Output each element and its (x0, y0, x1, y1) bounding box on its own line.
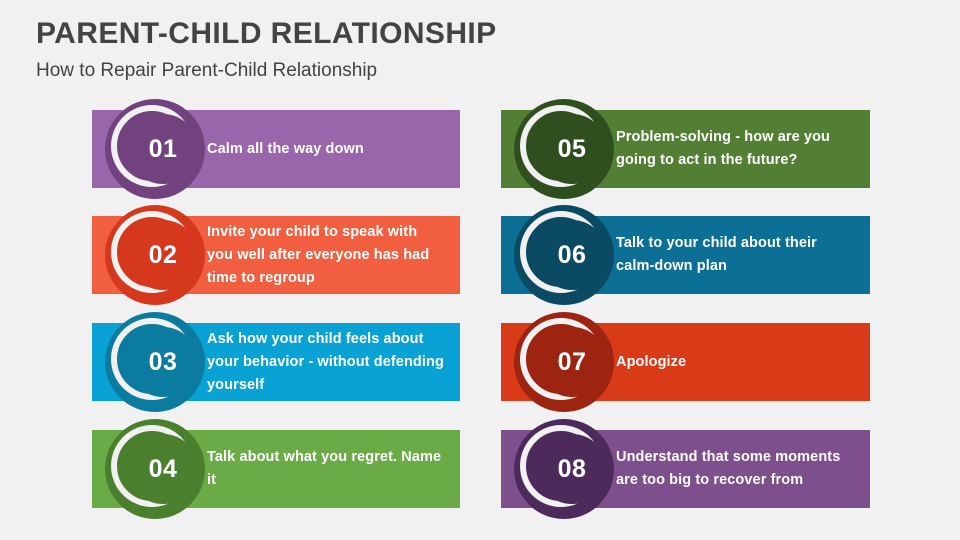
step-card-text: Talk about what you regret. Name it (207, 430, 446, 508)
step-card-label: Invite your child to speak with you well… (207, 221, 446, 290)
step-number-badge: 05 (514, 99, 614, 199)
step-number: 08 (558, 457, 587, 482)
step-number: 05 (558, 137, 587, 162)
step-card-label: Ask how your child feels about your beha… (207, 328, 446, 397)
step-number-badge: 06 (514, 205, 614, 305)
step-number: 07 (558, 350, 587, 375)
step-number: 06 (558, 243, 587, 268)
badge-inner-disc: 02 (128, 220, 198, 290)
step-number-badge: 07 (514, 312, 614, 412)
step-card-label: Apologize (616, 351, 686, 374)
badge-inner-disc: 06 (537, 220, 607, 290)
step-number-badge: 08 (514, 419, 614, 519)
slide-header: PARENT-CHILD RELATIONSHIP How to Repair … (36, 16, 916, 84)
step-card-text: Apologize (616, 323, 856, 401)
step-card-label: Talk about what you regret. Name it (207, 446, 446, 492)
step-card-text: Talk to your child about their calm-down… (616, 216, 856, 294)
step-number: 03 (149, 350, 178, 375)
step-card-label: Problem-solving - how are you going to a… (616, 126, 856, 172)
step-number: 01 (149, 137, 178, 162)
step-card[interactable]: 02Invite your child to speak with you we… (92, 216, 460, 294)
step-number-badge: 02 (105, 205, 205, 305)
badge-inner-disc: 07 (537, 327, 607, 397)
step-card[interactable]: 08Understand that some moments are too b… (501, 430, 870, 508)
step-card[interactable]: 07Apologize (501, 323, 870, 401)
step-card[interactable]: 05Problem-solving - how are you going to… (501, 110, 870, 188)
step-card[interactable]: 04Talk about what you regret. Name it (92, 430, 460, 508)
step-card-text: Calm all the way down (207, 110, 446, 188)
step-number-badge: 01 (105, 99, 205, 199)
step-card-text: Problem-solving - how are you going to a… (616, 110, 856, 188)
step-card-label: Talk to your child about their calm-down… (616, 232, 856, 278)
badge-inner-disc: 05 (537, 114, 607, 184)
step-number: 04 (149, 457, 178, 482)
step-card[interactable]: 03Ask how your child feels about your be… (92, 323, 460, 401)
step-card-text: Invite your child to speak with you well… (207, 216, 446, 294)
step-card-label: Understand that some moments are too big… (616, 446, 856, 492)
page-title: PARENT-CHILD RELATIONSHIP (36, 16, 916, 52)
badge-inner-disc: 08 (537, 434, 607, 504)
step-card-text: Ask how your child feels about your beha… (207, 323, 446, 401)
page-subtitle: How to Repair Parent-Child Relationship (36, 58, 916, 84)
step-number-badge: 03 (105, 312, 205, 412)
step-number: 02 (149, 243, 178, 268)
step-number-badge: 04 (105, 419, 205, 519)
step-card[interactable]: 06Talk to your child about their calm-do… (501, 216, 870, 294)
badge-inner-disc: 01 (128, 114, 198, 184)
step-card-label: Calm all the way down (207, 138, 364, 161)
step-card-text: Understand that some moments are too big… (616, 430, 856, 508)
slide-canvas: PARENT-CHILD RELATIONSHIP How to Repair … (0, 0, 960, 540)
badge-inner-disc: 04 (128, 434, 198, 504)
step-card[interactable]: 01Calm all the way down (92, 110, 460, 188)
badge-inner-disc: 03 (128, 327, 198, 397)
